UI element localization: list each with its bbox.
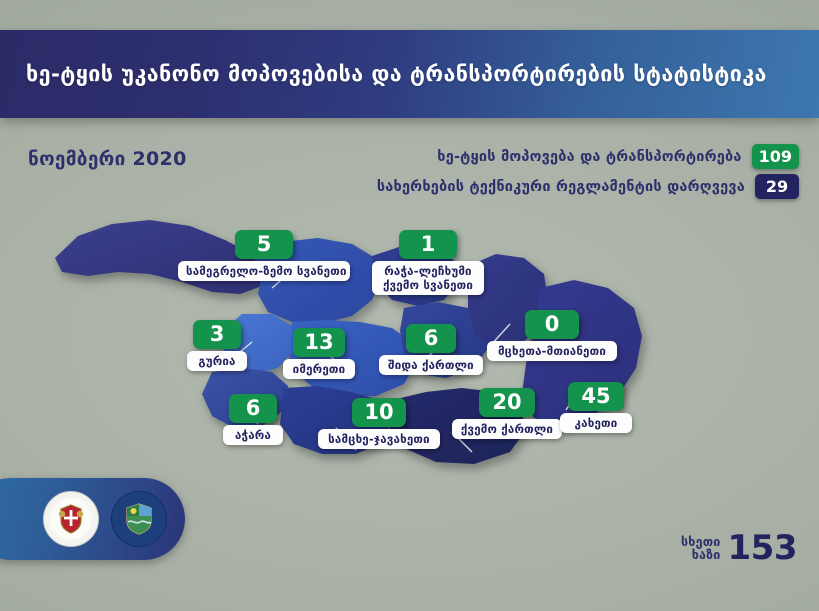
region-value-imereti: 13 — [293, 328, 345, 357]
region-value-kakheti: 45 — [568, 382, 624, 411]
region-value-shida-kartli: 6 — [406, 324, 456, 353]
region-marker-racha[interactable]: 1 რაჭა-ლეჩხუმი ქვემო სვანეთი — [372, 230, 484, 295]
region-name-racha: რაჭა-ლეჩხუმი ქვემო სვანეთი — [372, 261, 484, 295]
legend-label-harvest: ხე-ტყის მოპოვება და ტრანსპორტირება — [437, 149, 741, 165]
region-marker-samtskhe[interactable]: 10 სამცხე-ჯავახეთი — [318, 398, 440, 449]
region-value-mtskheta: 0 — [525, 310, 579, 339]
legend-value-harvest: 109 — [752, 144, 799, 169]
total-value: 153 — [728, 528, 797, 568]
region-name-shida-kartli: შიდა ქართლი — [379, 355, 483, 375]
region-name-kvemo-kartli: ქვემო ქართლი — [452, 419, 562, 439]
region-name-adjara: აჭარა — [223, 425, 283, 445]
header-banner: ხე-ტყის უკანონო მოპოვებისა და ტრანსპორტი… — [0, 30, 819, 118]
region-value-kvemo-kartli: 20 — [479, 388, 535, 417]
region-marker-imereti[interactable]: 13 იმერეთი — [283, 328, 355, 379]
logo-plate — [0, 478, 185, 560]
region-name-kakheti: კახეთი — [560, 413, 632, 433]
region-name-samtskhe: სამცხე-ჯავახეთი — [318, 429, 440, 449]
legend-label-sawmill: სახერხების ტექნიკური რეგლამენტის დარღვევ… — [377, 179, 745, 195]
total-block: სხეთი ხაზი 153 — [681, 528, 797, 568]
georgia-map: 5 სამეგრელო-ზემო სვანეთი 1 რაჭა-ლეჩხუმი … — [0, 196, 819, 526]
region-marker-mtskheta[interactable]: 0 მცხეთა-მთიანეთი — [487, 310, 617, 361]
region-value-guria: 3 — [193, 320, 241, 349]
region-name-mtskheta: მცხეთა-მთიანეთი — [487, 341, 617, 361]
region-value-samtskhe: 10 — [352, 398, 406, 427]
region-name-guria: გურია — [187, 351, 247, 371]
total-label: სხეთი ხაზი — [681, 535, 721, 562]
region-value-racha: 1 — [399, 230, 457, 259]
government-emblem-icon — [43, 491, 99, 547]
region-marker-shida-kartli[interactable]: 6 შიდა ქართლი — [379, 324, 483, 375]
region-name-samegrelo: სამეგრელო-ზემო სვანეთი — [178, 261, 350, 281]
region-marker-samegrelo[interactable]: 5 სამეგრელო-ზემო სვანეთი — [178, 230, 350, 281]
region-value-adjara: 6 — [229, 394, 277, 423]
infographic-canvas: ხე-ტყის უკანონო მოპოვებისა და ტრანსპორტი… — [0, 0, 819, 611]
region-marker-kvemo-kartli[interactable]: 20 ქვემო ქართლი — [452, 388, 562, 439]
region-marker-kakheti[interactable]: 45 კახეთი — [560, 382, 632, 433]
region-name-imereti: იმერეთი — [283, 359, 355, 379]
page-title: ხე-ტყის უკანონო მოპოვებისა და ტრანსპორტი… — [0, 62, 767, 87]
coat-of-arms-icon — [56, 502, 86, 536]
agency-shield-icon — [124, 502, 154, 536]
month-label: ნოემბერი 2020 — [28, 148, 187, 170]
region-value-samegrelo: 5 — [235, 230, 293, 259]
legend-row-harvest: ხე-ტყის მოპოვება და ტრანსპორტირება 109 — [437, 144, 799, 169]
agency-emblem-icon — [111, 491, 167, 547]
region-marker-adjara[interactable]: 6 აჭარა — [223, 394, 283, 445]
region-marker-guria[interactable]: 3 გურია — [187, 320, 247, 371]
